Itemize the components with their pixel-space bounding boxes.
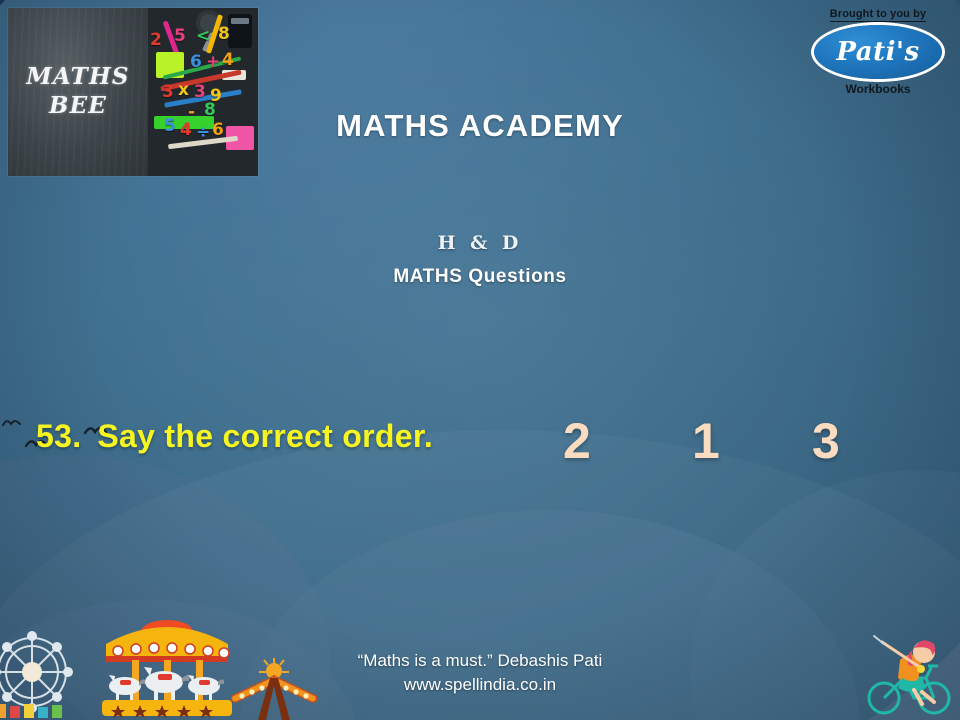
question-row: 53.Say the correct order. 2 1 3	[0, 412, 960, 474]
brand-oval: Pati's	[814, 25, 942, 79]
brand-tagline: Brought to you by	[830, 8, 926, 22]
school-supplies-photo: 2 5 < 8 6 + 4 3 x 3 9 - 8 5 4 ÷ 6	[148, 8, 258, 176]
answer-option[interactable]: 1	[692, 412, 720, 470]
supply-number: x	[178, 82, 189, 99]
supply-number: +	[206, 54, 220, 71]
supply-number: 5	[174, 28, 186, 45]
supply-number: 3	[162, 84, 174, 101]
logo-line-1: MATHS	[26, 63, 130, 92]
supply-number: 4	[222, 52, 234, 69]
footer: “Maths is a must.” Debashis Pati www.spe…	[0, 649, 960, 698]
answer-option[interactable]: 3	[812, 412, 840, 470]
maths-bee-logo: MATHS BEE 2 5 < 8 6 + 4 3	[8, 8, 258, 176]
brand-name: Pati's	[836, 37, 919, 67]
subtitle-code: H & D	[0, 232, 960, 254]
brand-logo: Brought to you by Pati's Workbooks	[804, 4, 952, 110]
footer-website[interactable]: www.spellindia.co.in	[0, 673, 960, 698]
answer-option[interactable]: 2	[563, 412, 591, 470]
brand-subtitle: Workbooks	[804, 82, 952, 96]
supply-number: 8	[218, 26, 230, 43]
page-title: MATHS ACADEMY	[0, 108, 960, 144]
calculator-screen-icon	[231, 18, 249, 24]
supply-number: <	[196, 28, 210, 45]
answer-options: 2 1 3	[0, 412, 960, 474]
chalkboard-panel: MATHS BEE	[8, 8, 148, 176]
slide-canvas: MATHS BEE 2 5 < 8 6 + 4 3	[0, 0, 960, 720]
supply-number: 3	[194, 84, 206, 101]
subtitle-label: MATHS Questions	[0, 266, 960, 288]
supply-number: 2	[150, 32, 162, 49]
supply-number: 6	[190, 54, 202, 71]
footer-quote: “Maths is a must.” Debashis Pati	[0, 649, 960, 674]
